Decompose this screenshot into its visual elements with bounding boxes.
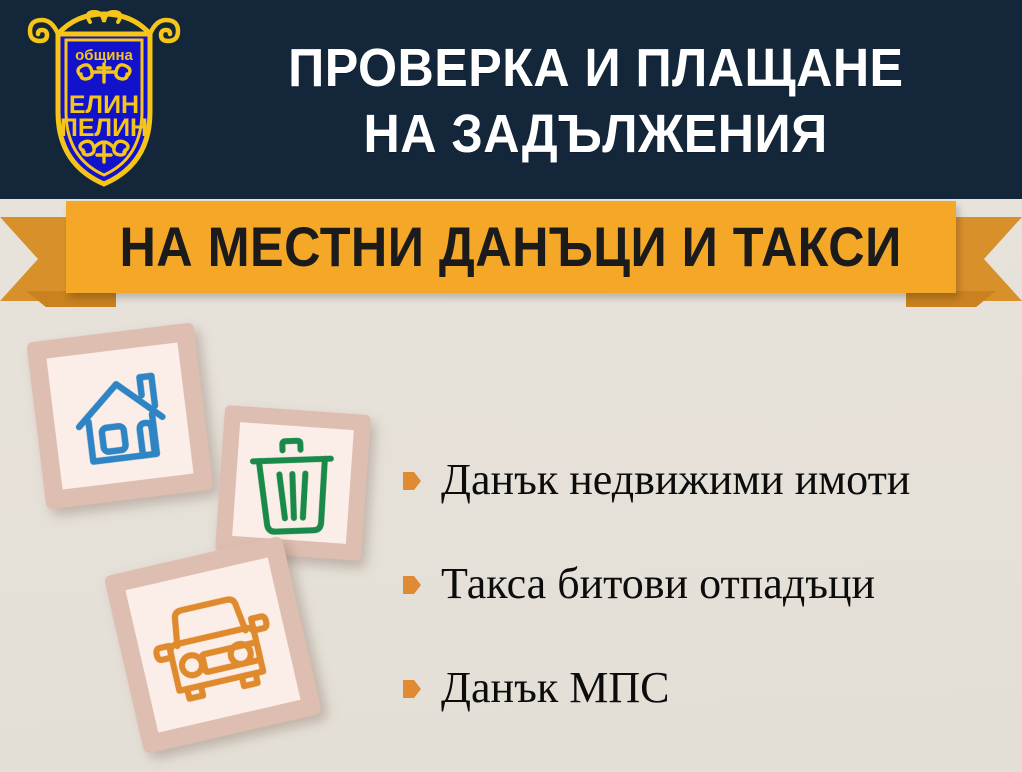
page-title-line-1: ПРОВЕРКА И ПЛАЩАНЕ xyxy=(288,35,903,101)
page-title-line-2: НА ЗАДЪЛЖЕНИЯ xyxy=(364,101,828,167)
ribbon-fold-right xyxy=(906,291,996,307)
ribbon-label: НА МЕСТНИ ДАНЪЦИ И ТАКСИ xyxy=(120,217,902,277)
ribbon-banner: НА МЕСТНИ ДАНЪЦИ И ТАКСИ xyxy=(66,201,956,293)
ribbon-fold-left xyxy=(26,291,116,307)
poster-root: община ЕЛИН ПЕЛИН ПРОВЕРКА И ПЛАЩАНЕ НА … xyxy=(0,0,1022,772)
tax-type-list: Данък недвижими имоти Такса битови отпад… xyxy=(402,428,1012,740)
subtitle-ribbon: НА МЕСТНИ ДАНЪЦИ И ТАКСИ xyxy=(0,195,1022,315)
pentagon-arrow-bullet-icon xyxy=(402,573,422,597)
list-item[interactable]: Данък МПС xyxy=(402,636,1012,740)
list-item-label: Данък недвижими имоти xyxy=(441,455,910,505)
logo-text-obshtina: община xyxy=(75,47,133,64)
list-item[interactable]: Данък недвижими имоти xyxy=(402,428,1012,532)
list-item-label: Данък МПС xyxy=(441,663,669,713)
page-title: ПРОВЕРКА И ПЛАЩАНЕ НА ЗАДЪЛЖЕНИЯ xyxy=(186,16,1006,186)
pentagon-arrow-bullet-icon xyxy=(402,677,422,701)
logo-text-pelin: ПЕЛИН xyxy=(60,114,148,142)
pentagon-arrow-bullet-icon xyxy=(402,469,422,493)
stamp-card-house xyxy=(11,307,229,525)
list-item-label: Такса битови отпадъци xyxy=(441,559,875,609)
list-item[interactable]: Такса битови отпадъци xyxy=(402,532,1012,636)
elin-pelin-coat-of-arms-icon: община ЕЛИН ПЕЛИН xyxy=(24,8,184,190)
